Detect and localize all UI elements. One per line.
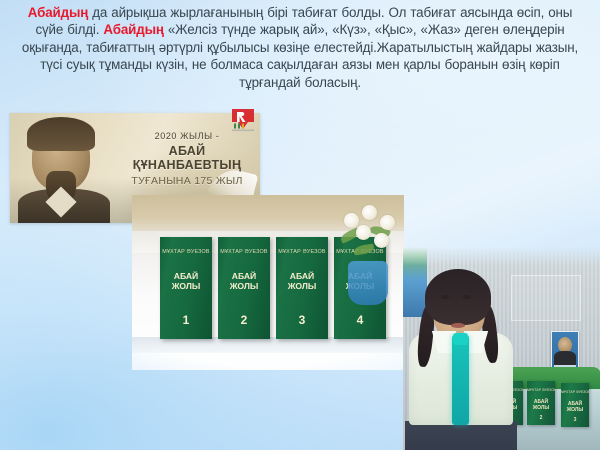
flower-bloom: [380, 215, 395, 230]
flower-leaf: [353, 244, 374, 256]
slide-canvas: Абайдың да айрықша жырлағанының бірі таб…: [0, 0, 600, 450]
book-number-4: 4: [334, 313, 386, 327]
book-number-2: 2: [218, 313, 270, 327]
flower-bloom: [356, 225, 371, 240]
book-volume-2: МҰХТАР ӘУЕЗОВ АБАЙ ЖОЛЫ 2: [218, 237, 270, 339]
book-author-3: МҰХТАР ӘУЕЗОВ: [276, 249, 328, 255]
slide-caption: Абайдың да айрықша жырлағанының бірі таб…: [14, 4, 586, 91]
desk-book-2: МҰХТАР ӘУЕЗОВ АБАЙ ЖОЛЫ 2: [527, 381, 555, 425]
book-volume-1: МҰХТАР ӘУЕЗОВ АБАЙ ЖОЛЫ 1: [160, 237, 212, 339]
book-title-1: АБАЙ ЖОЛЫ: [160, 271, 212, 291]
girl-eye-right: [463, 295, 471, 299]
flower-vase: [348, 261, 388, 305]
desk-book-title-3: АБАЙ ЖОЛЫ: [561, 402, 589, 413]
desk-book-3: МҰХТАР ӘУЕЗОВ АБАЙ ЖОЛЫ 3: [561, 383, 589, 427]
girl-skirt: [405, 421, 517, 450]
girl-hair: [425, 269, 491, 325]
book-volume-3: МҰХТАР ӘУЕЗОВ АБАЙ ЖОЛЫ 3: [276, 237, 328, 339]
desk-book-author-2: МҰХТАР ӘУЕЗОВ: [527, 388, 555, 392]
flower-bouquet: [336, 197, 404, 305]
framed-portrait-body: [554, 351, 576, 365]
book-title-3: АБАЙ ЖОЛЫ: [276, 271, 328, 291]
flower-bloom: [362, 205, 377, 220]
desk-book-number-3: 3: [561, 417, 589, 423]
book-number-3: 3: [276, 313, 328, 327]
abai-books-photo: МҰХТАР ӘУЕЗОВ АБАЙ ЖОЛЫ 1 МҰХТАР ӘУЕЗОВ …: [132, 195, 404, 370]
girl-eye-left: [441, 295, 449, 299]
desk-book-number-2: 2: [527, 415, 555, 421]
girl-mouth: [451, 323, 465, 328]
red-logo-watermark-icon: [228, 106, 258, 132]
books-table-top: [132, 337, 404, 353]
book-author-2: МҰХТАР ӘУЕЗОВ: [218, 249, 270, 255]
girl-necktie: [452, 335, 469, 425]
schoolgirl-photo: МҰХТАР ӘУЕЗОВ АБАЙ ЖОЛЫ 1 МҰХТАР ӘУЕЗОВ …: [403, 247, 600, 450]
portrait-hair: [27, 117, 95, 151]
banner-line-3: ТУҒАНЫНА 175 ЖЫЛ: [118, 175, 256, 187]
girl-figure: [403, 269, 525, 450]
desk-book-title-2: АБАЙ ЖОЛЫ: [527, 400, 555, 411]
caption-highlight-2: Абайдың: [103, 22, 163, 37]
banner-line-2: АБАЙ ҚҰНАНБАЕВТЫҢ: [118, 144, 256, 172]
banner-line-1: 2020 ЖЫЛЫ -: [118, 131, 256, 141]
flower-bloom: [344, 213, 359, 228]
book-title-2: АБАЙ ЖОЛЫ: [218, 271, 270, 291]
flower-bloom: [374, 233, 389, 248]
banner-text-block: 2020 ЖЫЛЫ - АБАЙ ҚҰНАНБАЕВТЫҢ ТУҒАНЫНА 1…: [118, 131, 256, 187]
book-author-1: МҰХТАР ӘУЕЗОВ: [160, 249, 212, 255]
girl-necktie-knot: [453, 333, 468, 345]
desk-book-author-3: МҰХТАР ӘУЕЗОВ: [561, 390, 589, 394]
abai-portrait-illustration: [16, 115, 112, 223]
caption-highlight-1: Абайдың: [28, 5, 88, 20]
book-number-1: 1: [160, 313, 212, 327]
